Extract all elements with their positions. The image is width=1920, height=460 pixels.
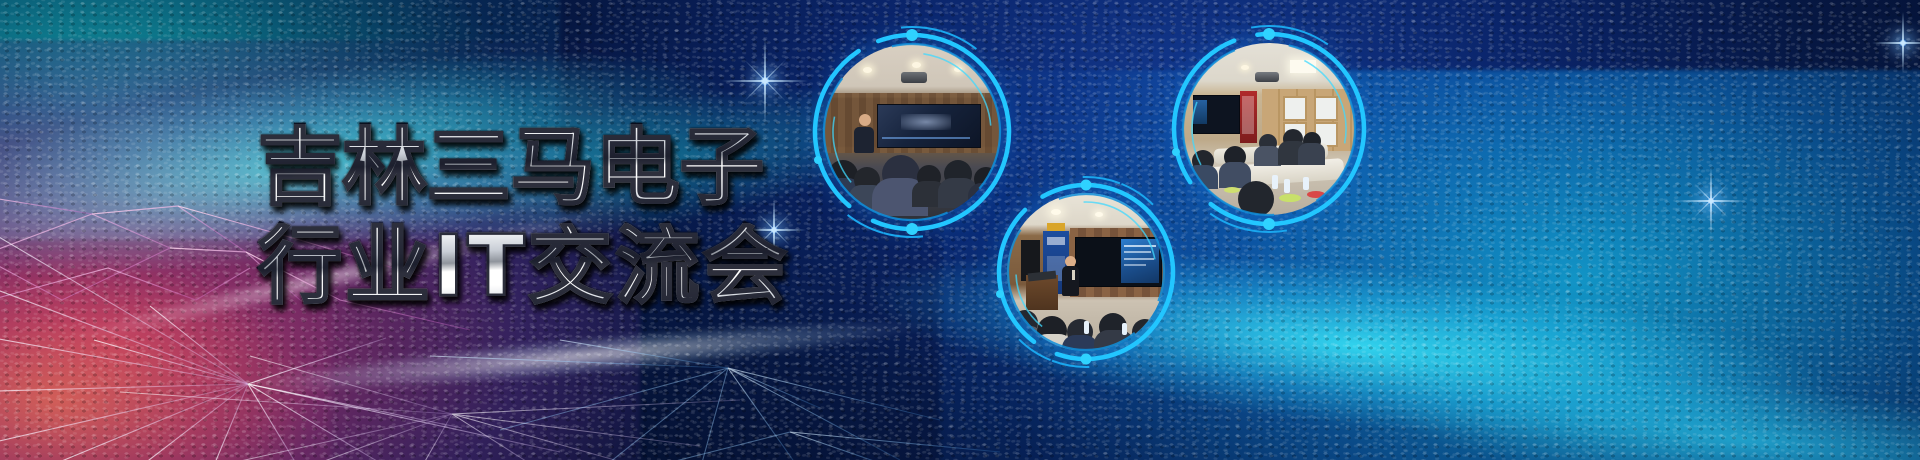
headline-line-1: 吉林三马电子 [258,124,790,211]
headline-line-2: 行业IT交流会 [258,223,790,310]
photo-medallion-speaker-stage [986,172,1186,372]
medallion-frame-ring [1160,20,1378,238]
headline-block: 吉林三马电子 行业IT交流会 [258,124,790,311]
medallion-frame-ring [986,172,1186,372]
event-banner: 吉林三马电子 行业IT交流会 [0,0,1920,460]
photo-medallion-meeting-room [1160,20,1378,238]
